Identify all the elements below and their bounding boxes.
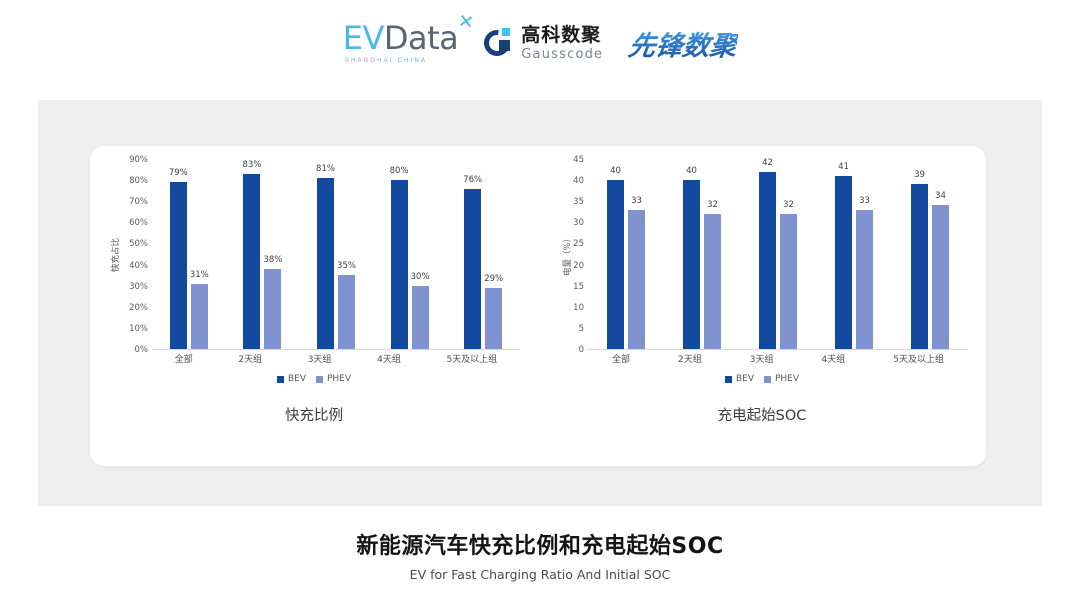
y-tick-label: 20 bbox=[573, 261, 584, 271]
bar-value-label: 80% bbox=[390, 166, 409, 176]
y-tick-label: 35 bbox=[573, 197, 584, 207]
legend-item-phev[interactable]: PHEV bbox=[316, 374, 351, 384]
y-tick-label: 15 bbox=[573, 282, 584, 292]
y-tick-label: 10 bbox=[573, 303, 584, 313]
legend-item-bev[interactable]: BEV bbox=[277, 374, 306, 384]
bar-value-label: 32 bbox=[783, 200, 794, 210]
bar-bev[interactable]: 76% bbox=[464, 189, 481, 349]
legend-label: BEV bbox=[288, 374, 306, 384]
legend-label: PHEV bbox=[327, 374, 351, 384]
y-tick-label: 5 bbox=[579, 324, 584, 334]
bar-group: 76%29% bbox=[464, 159, 502, 349]
bar-group: 3934 bbox=[911, 159, 949, 349]
legend-label: BEV bbox=[736, 374, 754, 384]
evdata-tagline-city: SHANGHAI bbox=[345, 58, 394, 64]
bar-value-label: 83% bbox=[242, 160, 261, 170]
cross-icon: ✕ bbox=[457, 12, 475, 33]
y-tick-label: 50% bbox=[129, 239, 148, 249]
bar-phev[interactable]: 32 bbox=[704, 214, 721, 349]
chart-fast-charging-ratio: 快充占比0%10%20%30%40%50%60%70%80%90%79%31%8… bbox=[90, 146, 538, 466]
evdata-tagline-country: CHINA bbox=[398, 58, 428, 64]
bar-phev[interactable]: 31% bbox=[191, 284, 208, 349]
bar-phev[interactable]: 33 bbox=[856, 210, 873, 349]
bar-phev[interactable]: 35% bbox=[338, 275, 355, 349]
x-tick-label: 3天组 bbox=[308, 352, 332, 365]
x-tick-label: 5天及以上组 bbox=[446, 352, 497, 365]
bar-value-label: 33 bbox=[631, 196, 642, 206]
evdata-wordmark: EV Data ✕ bbox=[343, 22, 459, 54]
bar-value-label: 35% bbox=[337, 261, 356, 271]
evdata-logo: EV Data ✕ SHANGHAI CHINA bbox=[343, 22, 459, 64]
page-subtitle: EV for Fast Charging Ratio And Initial S… bbox=[0, 567, 1080, 582]
bar-value-label: 33 bbox=[859, 196, 870, 206]
x-tick-label: 全部 bbox=[175, 352, 193, 365]
evdata-tagline: SHANGHAI CHINA bbox=[345, 58, 428, 64]
y-tick-label: 40% bbox=[129, 261, 148, 271]
x-tick-label: 4天组 bbox=[821, 352, 845, 365]
bar-group: 4032 bbox=[683, 159, 721, 349]
y-tick-label: 70% bbox=[129, 197, 148, 207]
bar-phev[interactable]: 32 bbox=[780, 214, 797, 349]
bar-bev[interactable]: 83% bbox=[243, 174, 260, 349]
y-tick-label: 0 bbox=[579, 345, 584, 355]
y-tick-label: 60% bbox=[129, 218, 148, 228]
y-tick-label: 80% bbox=[129, 176, 148, 186]
y-axis-tick-labels: 051015202530354045 bbox=[548, 160, 584, 350]
chart-legend: BEVPHEV bbox=[538, 374, 986, 384]
bar-phev[interactable]: 30% bbox=[412, 286, 429, 349]
y-tick-label: 10% bbox=[129, 324, 148, 334]
evdata-ev-text: EV bbox=[343, 22, 384, 54]
x-tick-label: 4天组 bbox=[377, 352, 401, 365]
bar-value-label: 41 bbox=[838, 162, 849, 172]
y-tick-label: 25 bbox=[573, 239, 584, 249]
legend-label: PHEV bbox=[775, 374, 799, 384]
x-axis-tick-labels: 全部2天组3天组4天组5天及以上组 bbox=[152, 352, 520, 370]
bar-bev[interactable]: 41 bbox=[835, 176, 852, 349]
bar-value-label: 39 bbox=[914, 170, 925, 180]
bar-group: 4033 bbox=[607, 159, 645, 349]
y-tick-label: 45 bbox=[573, 155, 584, 165]
slide-page: EV Data ✕ SHANGHAI CHINA 高科数聚 Gausscode … bbox=[0, 0, 1080, 608]
x-tick-label: 3天组 bbox=[750, 352, 774, 365]
y-tick-label: 30 bbox=[573, 218, 584, 228]
gausscode-mark-icon bbox=[484, 28, 514, 58]
bar-value-label: 29% bbox=[484, 274, 503, 284]
bar-value-label: 40 bbox=[610, 166, 621, 176]
bar-group: 81%35% bbox=[317, 159, 355, 349]
chart-caption: 快充比例 bbox=[90, 404, 538, 425]
bar-phev[interactable]: 38% bbox=[264, 269, 281, 349]
bar-bev[interactable]: 81% bbox=[317, 178, 334, 349]
bar-value-label: 31% bbox=[190, 270, 209, 280]
bar-group: 80%30% bbox=[391, 159, 429, 349]
gausscode-cn-text: 高科数聚 bbox=[521, 26, 603, 45]
chart-legend: BEVPHEV bbox=[90, 374, 538, 384]
xianfeng-logo: 先锋数聚 bbox=[627, 24, 740, 63]
bar-bev[interactable]: 42 bbox=[759, 172, 776, 349]
gausscode-en-text: Gausscode bbox=[521, 48, 603, 61]
bar-phev[interactable]: 33 bbox=[628, 210, 645, 349]
legend-item-bev[interactable]: BEV bbox=[725, 374, 754, 384]
x-tick-label: 2天组 bbox=[238, 352, 262, 365]
bars-area: 79%31%83%38%81%35%80%30%76%29% bbox=[152, 160, 520, 350]
bar-value-label: 79% bbox=[169, 168, 188, 178]
gausscode-logo: 高科数聚 Gausscode bbox=[484, 26, 603, 61]
bar-bev[interactable]: 39 bbox=[911, 184, 928, 349]
page-title: 新能源汽车快充比例和充电起始SOC bbox=[0, 528, 1080, 560]
bar-phev[interactable]: 29% bbox=[485, 288, 502, 349]
legend-swatch-icon bbox=[764, 376, 771, 383]
chart-caption: 充电起始SOC bbox=[538, 404, 986, 425]
bar-value-label: 38% bbox=[263, 255, 282, 265]
bar-group: 79%31% bbox=[170, 159, 208, 349]
bar-value-label: 32 bbox=[707, 200, 718, 210]
bar-bev[interactable]: 80% bbox=[391, 180, 408, 349]
legend-swatch-icon bbox=[277, 376, 284, 383]
bar-value-label: 81% bbox=[316, 164, 335, 174]
slide-title-block: 新能源汽车快充比例和充电起始SOC EV for Fast Charging R… bbox=[0, 528, 1080, 582]
y-tick-label: 40 bbox=[573, 176, 584, 186]
logo-bar: EV Data ✕ SHANGHAI CHINA 高科数聚 Gausscode … bbox=[0, 22, 1080, 64]
bar-bev[interactable]: 40 bbox=[683, 180, 700, 349]
x-axis-tick-labels: 全部2天组3天组4天组5天及以上组 bbox=[588, 352, 968, 370]
charts-container: 快充占比0%10%20%30%40%50%60%70%80%90%79%31%8… bbox=[90, 146, 986, 466]
legend-swatch-icon bbox=[725, 376, 732, 383]
legend-swatch-icon bbox=[316, 376, 323, 383]
y-tick-label: 30% bbox=[129, 282, 148, 292]
y-tick-label: 90% bbox=[129, 155, 148, 165]
y-axis-tick-labels: 0%10%20%30%40%50%60%70%80%90% bbox=[112, 160, 148, 350]
x-tick-label: 5天及以上组 bbox=[893, 352, 944, 365]
x-tick-label: 2天组 bbox=[678, 352, 702, 365]
bar-value-label: 30% bbox=[411, 272, 430, 282]
x-tick-label: 全部 bbox=[612, 352, 630, 365]
plot-area: 快充占比0%10%20%30%40%50%60%70%80%90%79%31%8… bbox=[90, 160, 538, 372]
bar-phev[interactable]: 34 bbox=[932, 205, 949, 349]
bar-value-label: 42 bbox=[762, 158, 773, 168]
plot-area: 电量（%）05101520253035404540334032423241333… bbox=[538, 160, 986, 372]
legend-item-phev[interactable]: PHEV bbox=[764, 374, 799, 384]
evdata-data-text: Data bbox=[384, 22, 458, 54]
bar-group: 4232 bbox=[759, 159, 797, 349]
bar-group: 83%38% bbox=[243, 159, 281, 349]
bar-value-label: 40 bbox=[686, 166, 697, 176]
chart-initial-soc: 电量（%）05101520253035404540334032423241333… bbox=[538, 146, 986, 466]
bar-group: 4133 bbox=[835, 159, 873, 349]
y-tick-label: 20% bbox=[129, 303, 148, 313]
bar-bev[interactable]: 79% bbox=[170, 182, 187, 349]
bar-value-label: 34 bbox=[935, 191, 946, 201]
y-tick-label: 0% bbox=[135, 345, 149, 355]
bars-area: 40334032423241333934 bbox=[588, 160, 968, 350]
bar-bev[interactable]: 40 bbox=[607, 180, 624, 349]
bar-value-label: 76% bbox=[463, 175, 482, 185]
